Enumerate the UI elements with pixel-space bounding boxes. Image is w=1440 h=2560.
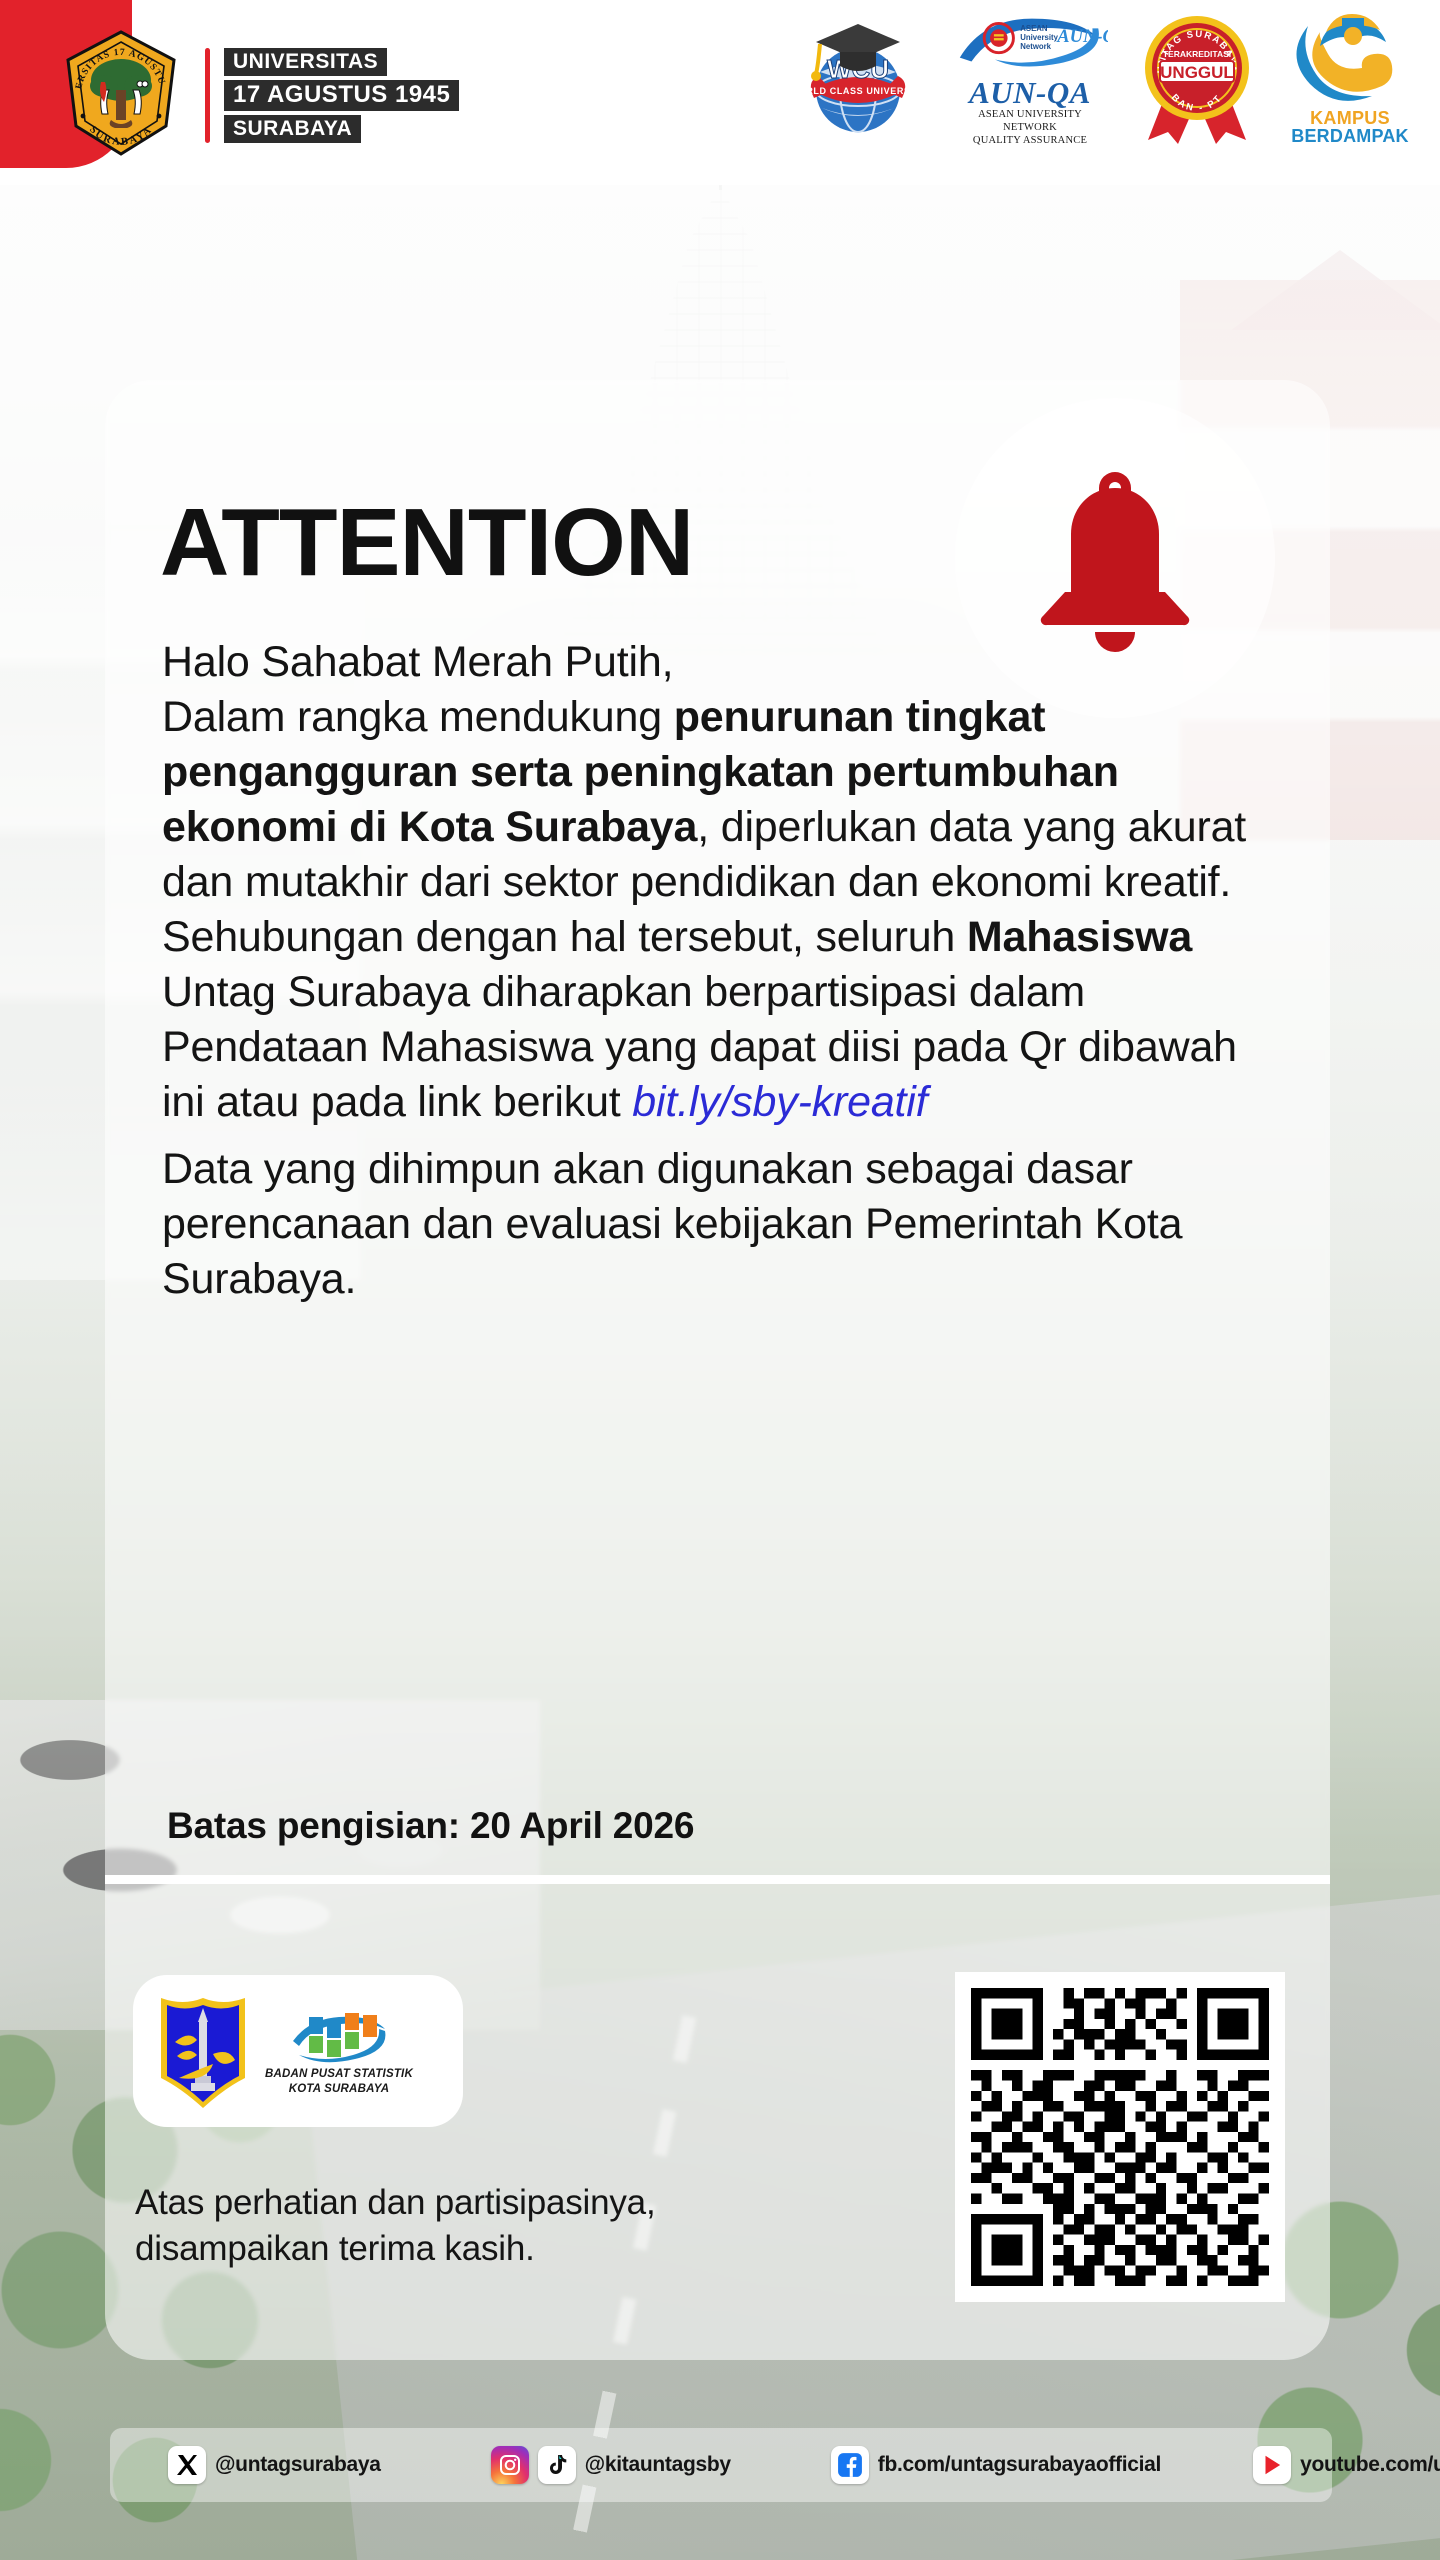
untag-wordmark: UNIVERSITAS 17 AGUSTUS 1945 SURABAYA: [205, 48, 459, 143]
deadline-text: Batas pengisian: 20 April 2026: [167, 1805, 694, 1847]
bps-label-2: KOTA SURABAYA: [289, 2082, 390, 2097]
social-item-facebook[interactable]: fb.com/untagsurabayaofficial: [831, 2446, 1161, 2484]
instagram-icon: [491, 2446, 529, 2484]
social-item-x[interactable]: @untagsurabaya: [168, 2446, 381, 2484]
kampus-label-2: BERDAMPAK: [1286, 127, 1414, 146]
accreditation-badges: WORLD CLASS UNIVERSITY WCU ASEAN Univer: [794, 12, 1414, 148]
poster-root: UNIVERSITAS 17 AGUSTUS 1945 SURABAYA UNI…: [0, 0, 1440, 2560]
thanks-line-2: disampaikan terima kasih.: [135, 2226, 775, 2272]
svg-text:Network: Network: [1020, 42, 1051, 51]
card-divider: [105, 1875, 1330, 1884]
x-twitter-icon: [168, 2446, 206, 2484]
wordmark-line-city: SURABAYA: [224, 115, 361, 143]
body-paragraph-2: Sehubungan dengan hal tersebut, seluruh …: [162, 910, 1272, 1130]
thanks-line-1: Atas perhatian dan partisipasinya,: [135, 2180, 775, 2226]
wordmark-rule: [205, 48, 210, 143]
social-label-x: @untagsurabaya: [215, 2453, 381, 2477]
svg-text:WORLD CLASS UNIVERSITY: WORLD CLASS UNIVERSITY: [794, 86, 922, 96]
wordmark-line-year: 17 AGUSTUS 1945: [224, 80, 459, 111]
bps-logo-block: BADAN PUSAT STATISTIK KOTA SURABAYA: [265, 2005, 413, 2097]
svg-text:TERAKREDITASI: TERAKREDITASI: [1163, 49, 1231, 59]
svg-text:AUN-QA: AUN-QA: [1056, 26, 1108, 47]
page-title: ATTENTION: [160, 495, 693, 591]
thanks-text: Atas perhatian dan partisipasinya, disam…: [135, 2180, 775, 2271]
partner-logos-pill: BADAN PUSAT STATISTIK KOTA SURABAYA: [133, 1975, 463, 2127]
qr-code-svg: [971, 1988, 1269, 2286]
body-p2-pre: Sehubungan dengan hal tersebut, seluruh: [162, 913, 967, 961]
body-p1-pre: Dalam rangka mendukung: [162, 693, 674, 741]
wcu-badge-icon: WORLD CLASS UNIVERSITY WCU: [794, 12, 922, 148]
social-item-instagram-tiktok[interactable]: @kitauntagsby: [491, 2446, 731, 2484]
aun-qa-badge: ASEAN University Network AUN-QA AUN-QA A…: [952, 12, 1108, 144]
aun-qa-swoosh-icon: ASEAN University Network AUN-QA: [952, 12, 1108, 70]
youtube-icon: [1253, 2446, 1291, 2484]
form-link[interactable]: bit.ly/sby-kreatif: [632, 1078, 927, 1126]
social-label-instagram-tiktok: @kitauntagsby: [585, 2453, 731, 2477]
kampus-berdampak-icon: [1286, 12, 1414, 104]
surabaya-city-crest-icon: [151, 1992, 255, 2110]
tiktok-icon: [538, 2446, 576, 2484]
social-label-youtube: youtube.com/untagsurabaya: [1300, 2453, 1440, 2477]
kampus-berdampak-badge: KAMPUS BERDAMPAK: [1286, 12, 1414, 148]
svg-text:UNGGUL: UNGGUL: [1160, 63, 1234, 82]
svg-text:ASEAN: ASEAN: [1020, 24, 1048, 33]
bps-label-1: BADAN PUSAT STATISTIK: [265, 2067, 413, 2082]
aun-qa-title: AUN-QA: [952, 77, 1108, 108]
bell-icon: [1025, 460, 1205, 656]
body-greeting: Halo Sahabat Merah Putih,: [162, 635, 1272, 690]
aun-qa-subtitle-1: ASEAN UNIVERSITY NETWORK: [952, 108, 1108, 134]
facebook-icon: [831, 2446, 869, 2484]
kampus-label-1: KAMPUS: [1286, 109, 1414, 127]
social-footer-bar: @untagsurabaya @kitauntagsby: [110, 2428, 1332, 2502]
header-bar: UNIVERSITAS 17 AGUSTUS 1945 SURABAYA UNI…: [0, 0, 1440, 185]
svg-text:University: University: [1020, 33, 1058, 42]
qr-code[interactable]: [955, 1972, 1285, 2302]
bps-logo-icon: [287, 2005, 391, 2067]
wordmark-line-universitas: UNIVERSITAS: [224, 48, 387, 76]
unggul-accreditation-badge: UNTAG SURABAYA BAN - PT TERAKREDITASI UN…: [1138, 12, 1256, 146]
untag-seal-logo: UNIVERSITAS 17 AGUSTUS 1945 SURABAYA: [56, 28, 186, 158]
social-item-youtube[interactable]: youtube.com/untagsurabaya: [1253, 2446, 1440, 2484]
announcement-body: Halo Sahabat Merah Putih, Dalam rangka m…: [162, 635, 1272, 1307]
announcement-card: ATTENTION Halo Sahabat Merah Putih, Dala…: [105, 380, 1330, 2360]
aun-qa-subtitle-2: QUALITY ASSURANCE: [952, 134, 1108, 147]
social-label-facebook: fb.com/untagsurabayaofficial: [878, 2453, 1161, 2477]
body-p2-bold: Mahasiswa: [967, 913, 1192, 961]
body-paragraph-3: Data yang dihimpun akan digunakan sebaga…: [162, 1142, 1272, 1307]
body-paragraph-1: Dalam rangka mendukung penurunan tingkat…: [162, 690, 1272, 910]
